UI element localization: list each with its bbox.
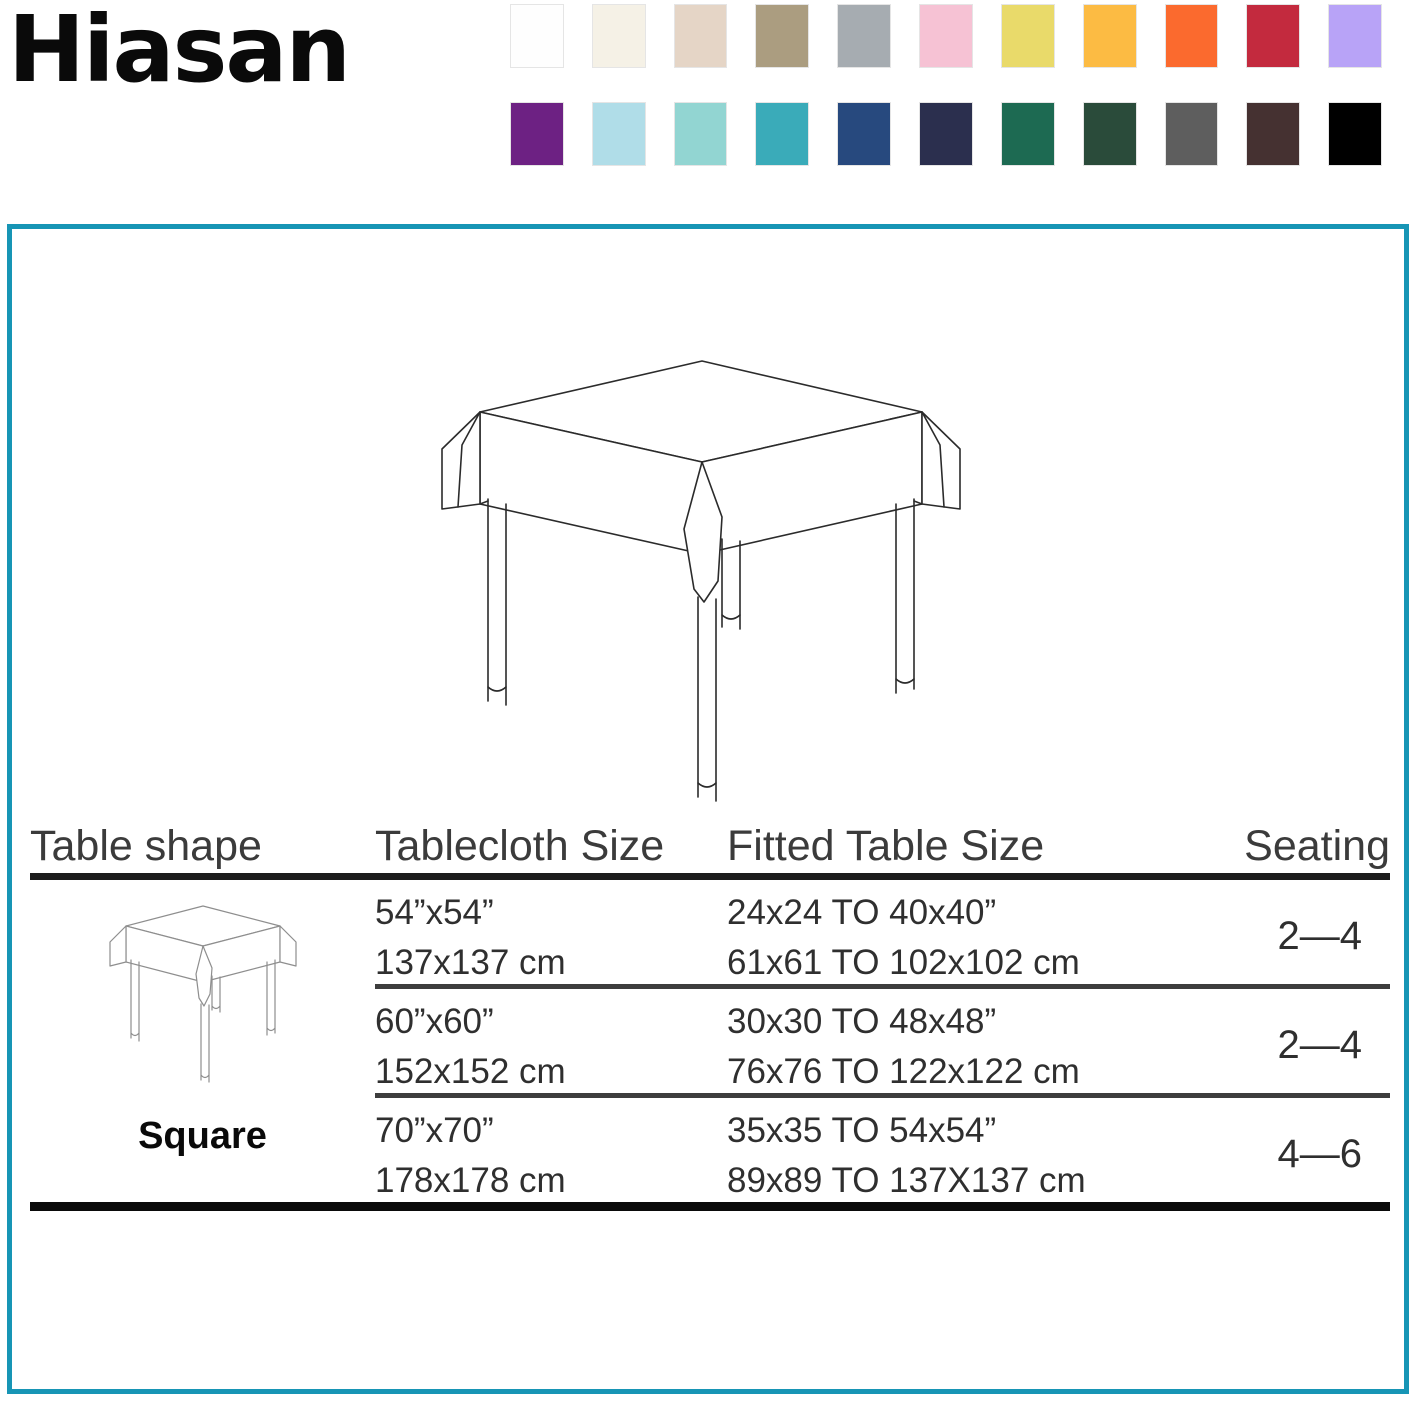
column-header-fitted-table-size: Fitted Table Size	[727, 822, 1217, 871]
size-rows: 54”x54”137x137 cm24x24 TO 40x40”61x61 TO…	[375, 880, 1390, 1202]
seating-value: 2—4	[1278, 914, 1391, 959]
color-swatch-navy-blue[interactable]	[838, 103, 890, 165]
column-header-tablecloth-size: Tablecloth Size	[375, 822, 727, 871]
palette-row-top	[511, 5, 1411, 67]
color-swatch-white[interactable]	[511, 5, 563, 67]
fitted-size-inches: 35x35 TO 54x54”	[727, 1106, 1217, 1156]
color-swatch-emerald[interactable]	[1002, 103, 1054, 165]
cell-seating: 4—6	[1217, 1106, 1390, 1202]
size-chart-table: Table shape Tablecloth Size Fitted Table…	[30, 809, 1390, 1211]
size-guide-panel: Table shape Tablecloth Size Fitted Table…	[7, 224, 1409, 1394]
table-header-row: Table shape Tablecloth Size Fitted Table…	[30, 809, 1390, 873]
color-swatch-ivory[interactable]	[593, 5, 645, 67]
square-table-icon	[98, 898, 308, 1093]
header-divider	[30, 873, 1390, 880]
table-shape-cell: Square	[30, 880, 375, 1202]
fitted-size-inches: 30x30 TO 48x48”	[727, 997, 1217, 1047]
table-row: 54”x54”137x137 cm24x24 TO 40x40”61x61 TO…	[375, 880, 1390, 989]
color-swatch-black[interactable]	[1329, 103, 1381, 165]
tablecloth-size-cm: 152x152 cm	[375, 1047, 727, 1097]
color-swatch-forest-green[interactable]	[1084, 103, 1136, 165]
column-header-seating: Seating	[1217, 822, 1390, 871]
color-swatch-light-blue[interactable]	[593, 103, 645, 165]
color-swatch-crimson[interactable]	[1247, 5, 1299, 67]
tablecloth-size-inches: 60”x60”	[375, 997, 727, 1047]
fitted-size-inches: 24x24 TO 40x40”	[727, 888, 1217, 938]
fitted-size-cm: 89x89 TO 137X137 cm	[727, 1156, 1217, 1206]
color-swatch-aqua[interactable]	[675, 103, 727, 165]
tablecloth-size-inches: 70”x70”	[375, 1106, 727, 1156]
color-swatch-palette	[511, 5, 1411, 175]
cell-tablecloth-size: 60”x60”152x152 cm	[375, 997, 727, 1096]
color-swatch-lavender[interactable]	[1329, 5, 1381, 67]
fitted-size-cm: 76x76 TO 122x122 cm	[727, 1047, 1217, 1097]
cell-tablecloth-size: 70”x70”178x178 cm	[375, 1106, 727, 1205]
tablecloth-size-cm: 178x178 cm	[375, 1156, 727, 1206]
cell-seating: 2—4	[1217, 888, 1390, 984]
fitted-size-cm: 61x61 TO 102x102 cm	[727, 938, 1217, 988]
color-swatch-gray[interactable]	[838, 5, 890, 67]
brand-logo: Hiasan	[8, 4, 349, 96]
cell-fitted-table-size: 30x30 TO 48x48”76x76 TO 122x122 cm	[727, 997, 1217, 1096]
table-body: Square 54”x54”137x137 cm24x24 TO 40x40”6…	[30, 880, 1390, 1202]
color-swatch-yellow[interactable]	[1002, 5, 1054, 67]
palette-row-bottom	[511, 103, 1411, 165]
cell-tablecloth-size: 54”x54”137x137 cm	[375, 888, 727, 987]
cell-seating: 2—4	[1217, 997, 1390, 1093]
color-swatch-dark-navy[interactable]	[920, 103, 972, 165]
color-swatch-teal[interactable]	[756, 103, 808, 165]
cell-fitted-table-size: 24x24 TO 40x40”61x61 TO 102x102 cm	[727, 888, 1217, 987]
color-swatch-pink[interactable]	[920, 5, 972, 67]
color-swatch-amber[interactable]	[1084, 5, 1136, 67]
table-row: 70”x70”178x178 cm35x35 TO 54x54”89x89 TO…	[375, 1098, 1390, 1202]
square-table-illustration	[422, 349, 982, 809]
color-swatch-beige[interactable]	[675, 5, 727, 67]
color-swatch-purple[interactable]	[511, 103, 563, 165]
color-swatch-dark-gray[interactable]	[1166, 103, 1218, 165]
column-header-table-shape: Table shape	[30, 822, 375, 871]
table-row: 60”x60”152x152 cm30x30 TO 48x48”76x76 TO…	[375, 989, 1390, 1098]
color-swatch-dark-brown[interactable]	[1247, 103, 1299, 165]
cell-fitted-table-size: 35x35 TO 54x54”89x89 TO 137X137 cm	[727, 1106, 1217, 1205]
color-swatch-orange[interactable]	[1166, 5, 1218, 67]
tablecloth-size-cm: 137x137 cm	[375, 938, 727, 988]
seating-value: 4—6	[1278, 1132, 1391, 1177]
color-swatch-taupe[interactable]	[756, 5, 808, 67]
table-shape-label: Square	[30, 1115, 375, 1158]
seating-value: 2—4	[1278, 1023, 1391, 1068]
tablecloth-size-inches: 54”x54”	[375, 888, 727, 938]
